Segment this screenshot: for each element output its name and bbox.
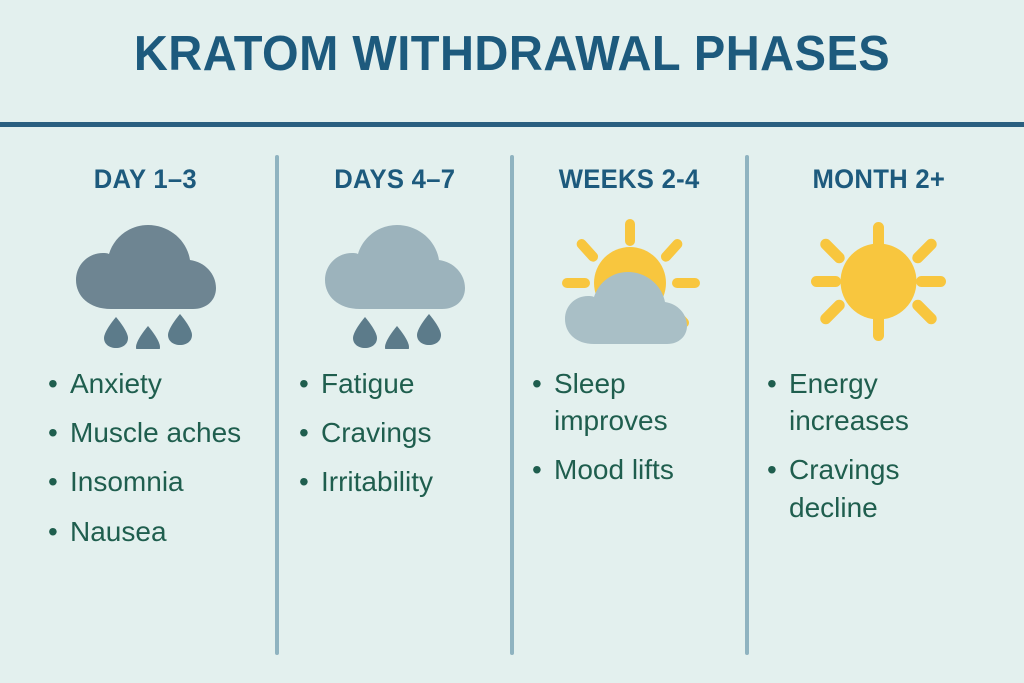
bullet-dot-icon: • bbox=[299, 414, 315, 451]
column-divider bbox=[275, 155, 279, 655]
phase-column-weeks-2-4: WEEKS 2-4 bbox=[512, 140, 747, 683]
bullet-dot-icon: • bbox=[48, 414, 64, 451]
list-item: • Nausea bbox=[48, 513, 167, 550]
list-item-label: Cravings decline bbox=[783, 451, 967, 525]
list-item-label: Anxiety bbox=[64, 365, 162, 402]
bullet-dot-icon: • bbox=[767, 365, 783, 402]
column-divider bbox=[745, 155, 749, 655]
list-item-label: Irritability bbox=[315, 463, 433, 500]
phase-column-days-4-7: DAYS 4–7 • Fatigue • Cravings bbox=[277, 140, 512, 683]
phase-columns: DAY 1–3 • Anxiety • Muscle aches bbox=[0, 140, 1024, 683]
phase-heading: WEEKS 2-4 bbox=[559, 164, 700, 195]
phase-heading: DAY 1–3 bbox=[94, 164, 197, 195]
symptom-list: • Fatigue • Cravings • Irritability bbox=[277, 365, 512, 513]
bullet-dot-icon: • bbox=[767, 451, 783, 488]
list-item: • Muscle aches bbox=[48, 414, 241, 451]
list-item-label: Cravings bbox=[315, 414, 431, 451]
bullet-dot-icon: • bbox=[48, 463, 64, 500]
list-item: • Cravings bbox=[299, 414, 431, 451]
list-item: • Anxiety bbox=[48, 365, 162, 402]
bullet-dot-icon: • bbox=[48, 513, 64, 550]
list-item: • Fatigue bbox=[299, 365, 414, 402]
list-item-label: Insomnia bbox=[64, 463, 184, 500]
list-item: • Sleep improves bbox=[532, 365, 732, 439]
list-item-label: Energy increases bbox=[783, 365, 967, 439]
phase-heading: DAYS 4–7 bbox=[334, 164, 455, 195]
list-item: • Mood lifts bbox=[532, 451, 674, 488]
symptom-list: • Anxiety • Muscle aches • Insomnia • Na… bbox=[14, 365, 277, 562]
list-item: • Insomnia bbox=[48, 463, 184, 500]
rain-cloud-dark-icon bbox=[61, 211, 231, 351]
list-item: • Energy increases bbox=[767, 365, 967, 439]
rain-cloud-light-icon bbox=[310, 211, 480, 351]
title-divider-rule bbox=[0, 122, 1024, 127]
infographic-page: Kratom Withdrawal Phases DAY 1–3 • Anxie… bbox=[0, 0, 1024, 683]
bullet-dot-icon: • bbox=[532, 451, 548, 488]
list-item-label: Nausea bbox=[64, 513, 167, 550]
phase-column-day-1-3: DAY 1–3 • Anxiety • Muscle aches bbox=[0, 140, 277, 683]
bullet-dot-icon: • bbox=[299, 463, 315, 500]
symptom-list: • Sleep improves • Mood lifts bbox=[512, 365, 747, 501]
list-item: • Irritability bbox=[299, 463, 433, 500]
phase-column-month-2-plus: MONTH 2+ bbox=[747, 140, 1024, 683]
list-item-label: Mood lifts bbox=[548, 451, 674, 488]
bullet-dot-icon: • bbox=[48, 365, 64, 402]
column-divider bbox=[510, 155, 514, 655]
sun-icon bbox=[794, 211, 964, 351]
list-item-label: Muscle aches bbox=[64, 414, 241, 451]
phase-heading: MONTH 2+ bbox=[812, 164, 945, 195]
bullet-dot-icon: • bbox=[532, 365, 548, 402]
list-item: • Cravings decline bbox=[767, 451, 967, 525]
sun-behind-cloud-icon bbox=[545, 211, 715, 351]
symptom-list: • Energy increases • Cravings decline bbox=[747, 365, 1010, 538]
bullet-dot-icon: • bbox=[299, 365, 315, 402]
list-item-label: Fatigue bbox=[315, 365, 414, 402]
page-title: Kratom Withdrawal Phases bbox=[20, 30, 1003, 79]
list-item-label: Sleep improves bbox=[548, 365, 732, 439]
